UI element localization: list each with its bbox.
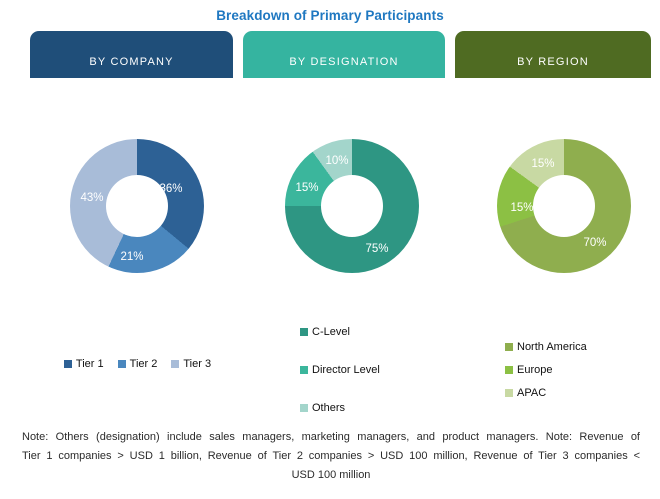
slice-label-apac: 15% [531,158,554,170]
legend-label-c-level: C-Level [312,326,350,338]
slice-label-director-level: 15% [295,182,318,194]
panel-header-by-region: BY REGION [455,31,651,78]
footnote-line-2: Tier 1 companies > USD 1 billion, Revenu… [22,447,640,466]
panel-header-by-designation: BY DESIGNATION [243,31,445,78]
footnote: Note: Others (designation) include sales… [22,428,640,485]
slice-label-tier-1: 36% [159,183,182,195]
footnote-line-3: USD 100 million [22,466,640,485]
slice-label-others: 10% [325,155,348,167]
donut-hole-by-region [533,175,595,237]
legend-swatch-director-level [300,366,308,374]
legend-swatch-europe [505,366,513,374]
legend-item-apac[interactable]: APAC [505,384,587,402]
panel-header-by-company: BY COMPANY [30,31,233,78]
legend-item-tier-3[interactable]: Tier 3 [171,355,211,373]
legend-by-region: North America Europe APAC [505,338,587,402]
legend-label-europe: Europe [517,364,552,376]
legend-item-tier-2[interactable]: Tier 2 [118,355,158,373]
legend-swatch-tier-2 [118,360,126,368]
footnote-line-1: Note: Others (designation) include sales… [22,428,640,447]
slice-label-tier-3: 43% [80,192,103,204]
legend-label-director-level: Director Level [312,364,380,376]
legend-label-tier-1: Tier 1 [76,358,104,370]
legend-label-apac: APAC [517,387,546,399]
slice-label-c-level: 75% [365,243,388,255]
legend-label-tier-3: Tier 3 [183,358,211,370]
legend-label-tier-2: Tier 2 [130,358,158,370]
donut-chart-by-region: 70% 15% 15% [497,139,631,273]
legend-item-c-level[interactable]: C-Level [300,323,380,341]
infographic-root: Breakdown of Primary Participants BY COM… [0,0,660,499]
page-title: Breakdown of Primary Participants [0,8,660,23]
panel-header-by-region-label: BY REGION [517,56,589,68]
panel-header-by-designation-label: BY DESIGNATION [289,56,398,68]
legend-swatch-c-level [300,328,308,336]
donut-chart-by-company: 36% 21% 43% [70,139,204,273]
legend-item-europe[interactable]: Europe [505,361,587,379]
legend-swatch-tier-1 [64,360,72,368]
legend-swatch-tier-3 [171,360,179,368]
legend-label-others: Others [312,402,345,414]
legend-item-others[interactable]: Others [300,399,380,417]
donut-hole-by-designation [321,175,383,237]
slice-label-europe: 15% [510,202,533,214]
legend-swatch-others [300,404,308,412]
slice-label-north-america: 70% [583,237,606,249]
legend-label-north-america: North America [517,341,587,353]
legend-item-north-america[interactable]: North America [505,338,587,356]
legend-item-director-level[interactable]: Director Level [300,361,380,379]
donut-chart-by-designation: 75% 15% 10% [285,139,419,273]
legend-swatch-north-america [505,343,513,351]
legend-by-company: Tier 1 Tier 2 Tier 3 [30,355,245,373]
legend-by-designation: C-Level Director Level Others [300,323,380,417]
legend-swatch-apac [505,389,513,397]
slice-label-tier-2: 21% [120,251,143,263]
legend-item-tier-1[interactable]: Tier 1 [64,355,104,373]
panel-header-by-company-label: BY COMPANY [89,56,173,68]
